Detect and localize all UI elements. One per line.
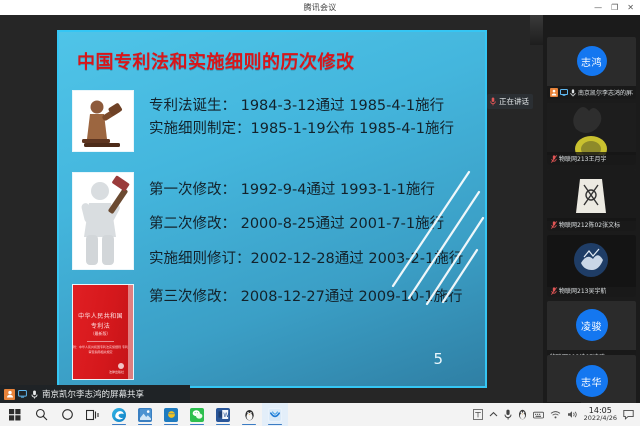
microphone-muted-icon: [550, 154, 557, 163]
hammer-figure-illustration: [72, 172, 134, 270]
book-title-line2: 专利法: [73, 321, 128, 330]
running-indicator: [190, 424, 204, 426]
taskbar-app-wechat[interactable]: [184, 403, 210, 426]
slide-line-5: 实施细则修订：2002-12-28通过 2003-2-1施行: [149, 247, 463, 268]
running-indicator: [268, 424, 282, 426]
chevron-up-icon: [489, 411, 498, 418]
book-edition: （最新版）: [73, 331, 128, 337]
wechat-icon: [192, 409, 203, 420]
clock-date: 2022/4/26: [584, 415, 617, 422]
participant-tile-1[interactable]: 物联网213王月宇: [547, 103, 636, 165]
book-spine: [128, 285, 133, 379]
window-title: 腾讯会议: [304, 2, 337, 13]
taskbar-app-tencent-meeting[interactable]: [262, 403, 288, 426]
microphone-icon: [490, 97, 496, 106]
windows-taskbar[interactable]: W: [0, 403, 640, 426]
microphone-muted-icon: [550, 286, 557, 295]
taskbar-clock[interactable]: 14:05 2022/4/26: [584, 406, 617, 423]
running-indicator: [216, 424, 230, 426]
slide-line-3: 第一次修改： 1992-9-4通过 1993-1-1施行: [149, 178, 435, 199]
avatar: 志鸿: [577, 46, 607, 76]
taskbar-system-tray: 14:05 2022/4/26: [473, 406, 640, 423]
search-icon: [35, 408, 48, 421]
screen-share-banner: 南京凯尔李志鸿的屏幕共享: [0, 385, 190, 403]
book-title-line1: 中华人民共和国: [73, 311, 128, 320]
task-view-button[interactable]: [80, 403, 106, 426]
host-icon: [550, 88, 558, 97]
running-indicator: [112, 424, 126, 426]
participant-name-2: 物联网212陈02张文标: [559, 220, 620, 229]
start-button[interactable]: [2, 403, 28, 426]
participant-name-3: 物联网213吴宇航: [559, 286, 606, 295]
keyboard-icon: [533, 411, 544, 419]
shared-screen-region[interactable]: 中国专利法和实施细则的历次修改: [57, 30, 487, 388]
gavel-illustration: [72, 90, 134, 152]
presentation-slide: 中国专利法和实施细则的历次修改: [59, 32, 485, 386]
action-center-button[interactable]: [623, 409, 634, 420]
search-button[interactable]: [28, 403, 54, 426]
microphone-icon: [30, 390, 39, 399]
host-icon: [4, 389, 15, 400]
participant-namebar-3: 物联网213吴宇航: [547, 284, 636, 297]
speaking-indicator: 正在讲话: [487, 94, 533, 109]
participant-tile-0[interactable]: 志鸿 南京凯尔李志鸿的屏幕共享: [547, 37, 636, 99]
speaker-icon: [567, 410, 578, 419]
minimize-button[interactable]: —: [594, 4, 602, 12]
slide-page-number: 5: [433, 350, 443, 368]
circle-icon: [61, 408, 74, 421]
running-indicator: [242, 424, 256, 426]
window-title-bar: 腾讯会议 — ❐ ✕: [0, 0, 640, 15]
tray-show-hidden-icons[interactable]: [489, 411, 498, 418]
microphone-icon: [570, 88, 576, 97]
book-publisher: 法律出版社: [109, 370, 124, 374]
cortana-button[interactable]: [54, 403, 80, 426]
participant-tile-4[interactable]: 凌骏 物联网212凌07凌骏: [547, 301, 636, 363]
participant-tile-3[interactable]: 物联网213吴宇航: [547, 235, 636, 297]
tray-input-method[interactable]: [533, 411, 544, 419]
participant-name-0: 南京凯尔李志鸿的屏幕共享: [578, 88, 633, 97]
participant-namebar-0: 南京凯尔李志鸿的屏幕共享: [547, 86, 636, 99]
participant-namebar-2: 物联网212陈02张文标: [547, 218, 636, 231]
running-indicator: [164, 424, 178, 426]
photos-icon: [140, 409, 151, 420]
screen-share-icon: [18, 390, 27, 399]
svg-text:W: W: [223, 412, 229, 419]
tencent-meeting-icon: [269, 409, 281, 421]
maximize-button[interactable]: ❐: [611, 4, 618, 12]
video-thumbnail: [547, 169, 636, 221]
tray-ime-indicator[interactable]: [473, 409, 483, 420]
tray-qq[interactable]: [518, 409, 527, 420]
speaking-label: 正在讲话: [499, 96, 529, 107]
windows-logo-icon: [9, 409, 21, 421]
running-indicator: [138, 424, 152, 426]
task-view-icon: [86, 409, 100, 421]
tencent-meeting-window: 腾讯会议 — ❐ ✕ 中国专利法和实施细则的历次修改: [0, 0, 640, 426]
share-banner-text: 南京凯尔李志鸿的屏幕共享: [42, 388, 144, 400]
microphone-muted-icon: [550, 220, 557, 229]
qq-penguin-icon: [244, 409, 255, 421]
video-thumbnail: [547, 235, 636, 287]
avatar: 志华: [576, 365, 608, 397]
participant-rail[interactable]: 志鸿 南京凯尔李志鸿的屏幕共享: [543, 15, 640, 403]
edge-icon: [114, 409, 125, 420]
tray-network[interactable]: [550, 410, 561, 419]
qq-penguin-icon: [518, 409, 527, 420]
slide-line-4: 第二次修改： 2000-8-25通过 2001-7-1施行: [149, 212, 444, 233]
participant-namebar-1: 物联网213王月宇: [547, 152, 636, 165]
patent-law-book-cover: 中华人民共和国 专利法 （最新版） 附：中华人民共和国专利法实施细则 专利审查指…: [72, 284, 134, 380]
video-thumbnail: [547, 103, 636, 155]
taskbar-app-edge[interactable]: [106, 403, 132, 426]
taskbar-app-wps[interactable]: [158, 403, 184, 426]
slide-line-1: 专利法诞生： 1984-3-12通过 1985-4-1施行: [149, 94, 444, 115]
gavel-icon: [76, 95, 130, 149]
taskbar-app-word[interactable]: W: [210, 403, 236, 426]
taskbar-app-qq[interactable]: [236, 403, 262, 426]
slide-line-6: 第三次修改： 2008-12-27通过 2009-10-1施行: [149, 285, 463, 306]
slide-title: 中国专利法和实施细则的历次修改: [77, 48, 355, 74]
microphone-icon: [504, 409, 512, 420]
slide-line-2: 实施细则制定：1985-1-19公布 1985-4-1施行: [149, 117, 454, 138]
taskbar-left-group: W: [0, 403, 288, 426]
close-button[interactable]: ✕: [627, 4, 634, 12]
wps-icon: [166, 409, 177, 420]
book-fine-print: 附：中华人民共和国专利法实施细则 专利审查指南相关规定: [73, 345, 128, 355]
word-icon: W: [218, 409, 229, 420]
participant-tile-2[interactable]: 物联网212陈02张文标: [547, 169, 636, 231]
taskbar-app-photos[interactable]: [132, 403, 158, 426]
network-icon: [550, 410, 561, 419]
notification-icon: [623, 409, 634, 420]
publisher-logo-icon: [118, 363, 124, 369]
screen-share-icon: [560, 89, 568, 97]
person-with-hammer-icon: [73, 173, 133, 269]
tray-volume[interactable]: [567, 410, 578, 419]
book-divider: [87, 341, 114, 342]
tray-microphone[interactable]: [504, 409, 512, 420]
avatar: 凌骏: [576, 309, 608, 341]
ime-icon: [473, 409, 483, 420]
participant-name-1: 物联网213王月宇: [559, 154, 606, 163]
window-controls: — ❐ ✕: [594, 0, 638, 15]
